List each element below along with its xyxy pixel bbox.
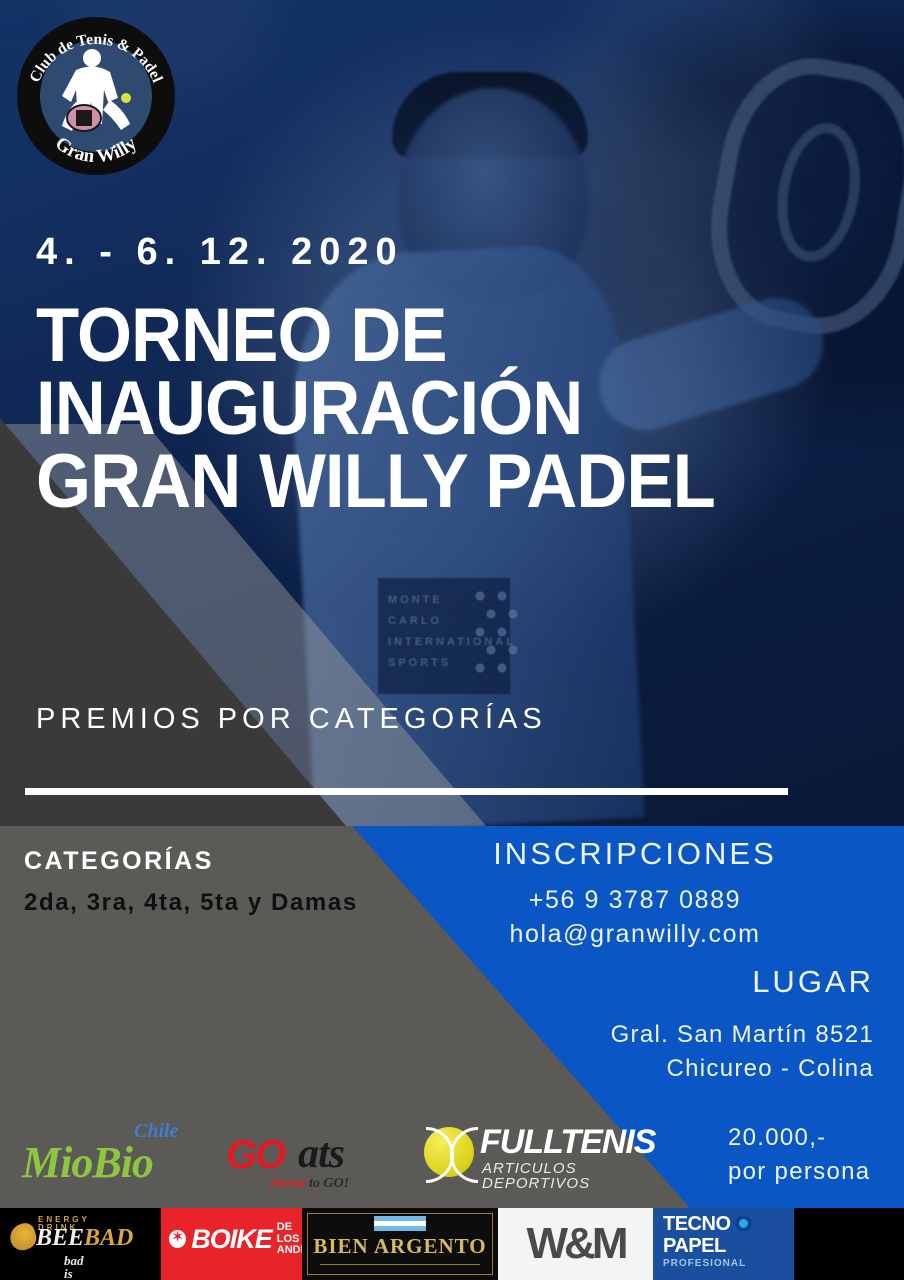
bienargento-rule — [320, 1264, 480, 1265]
bienargento-logo: BIEN ARGENTO — [307, 1213, 493, 1275]
tecnopapel-line-3: PROFESIONAL — [663, 1259, 746, 1269]
sponsor-fulltenis-logo: FULLTENIS ARTICULOS DEPORTIVOS — [424, 1123, 634, 1193]
divider-rule — [25, 788, 788, 795]
sponsor-wm-cell: W&M — [498, 1208, 653, 1280]
beebad-word-a: BEE — [36, 1225, 84, 1251]
registration-heading: INSCRIPCIONES — [410, 838, 860, 869]
boike-wordmark: BOIKE — [191, 1226, 272, 1253]
sponsor-bienargento-cell: BIEN ARGENTO — [302, 1208, 498, 1280]
registration-email[interactable]: hola@granwilly.com — [410, 918, 860, 952]
categories-list: 2da, 3ra, 4ta, 5ta y Damas — [24, 891, 358, 915]
tecnopapel-line-1: TECNO — [663, 1214, 746, 1234]
tournament-poster: MONTECARLOINTERNATIONALSPORTS — [0, 0, 904, 1280]
sponsor-tecnopapel-cell: TECNO PAPEL PROFESIONAL — [653, 1208, 794, 1280]
goats-tagline-a: Avena — [270, 1176, 306, 1191]
bee-icon — [7, 1221, 40, 1254]
sponsor-blank-cell — [794, 1208, 904, 1280]
sponsor-strip: ENERGY DRINK BEEBAD bad is better BOIKE … — [0, 1208, 904, 1280]
sponsor-goats-logo: GO ats Avena to GO! — [226, 1119, 386, 1199]
beebad-wordmark: BEEBAD — [36, 1226, 133, 1250]
venue-heading: LUGAR — [752, 966, 874, 997]
sponsor-miobio-logo: Chile MioBio — [22, 1115, 197, 1195]
bienargento-wordmark: BIEN ARGENTO — [308, 1236, 492, 1257]
title-line-1: TORNEO DE — [36, 300, 771, 373]
page-title: TORNEO DE INAUGURACIÓN GRAN WILLY PADEL — [36, 300, 771, 519]
sponsor-logo-row: Chile MioBio GO ats Avena to GO! FULLTEN… — [0, 1105, 700, 1205]
tecnopapel-dot-icon — [735, 1215, 752, 1232]
title-line-3: GRAN WILLY PADEL — [36, 446, 771, 519]
venue-address-line-2: Chicureo - Colina — [611, 1052, 874, 1086]
venue-address-line-1: Gral. San Martín 8521 — [611, 1018, 874, 1052]
goats-ats-text: ats — [298, 1133, 344, 1175]
wm-wordmark: W&M — [498, 1208, 653, 1280]
beebad-slogan: bad is better — [64, 1254, 94, 1280]
tecnopapel-line-2: PAPEL — [663, 1236, 746, 1256]
miobio-wordmark: MioBio — [22, 1141, 153, 1185]
price-block: 20.000,- por persona — [728, 1121, 870, 1189]
price-amount: 20.000,- — [728, 1121, 870, 1155]
tennis-ball-icon — [424, 1127, 474, 1177]
sponsor-boike-cell: BOIKE DE LOS ANDES — [161, 1208, 302, 1280]
boike-logo: BOIKE DE LOS ANDES — [169, 1222, 316, 1257]
goats-tagline: Avena to GO! — [270, 1177, 349, 1191]
event-date: 4. - 6. 12. 2020 — [36, 233, 404, 271]
categories-heading: CATEGORÍAS — [24, 849, 214, 874]
goats-go-text: GO — [226, 1135, 284, 1175]
fulltenis-wordmark: FULLTENIS — [480, 1125, 655, 1159]
club-logo: Club de Tenis & Padel Gran Willy — [14, 14, 178, 178]
prizes-label: PREMIOS POR CATEGORÍAS — [36, 705, 547, 734]
sponsor-beebad-cell: ENERGY DRINK BEEBAD bad is better — [0, 1208, 161, 1280]
price-unit: por persona — [728, 1155, 870, 1189]
registration-phone[interactable]: +56 9 3787 0889 — [410, 884, 860, 918]
argentina-flag-icon — [374, 1216, 426, 1231]
tecnopapel-logo: TECNO PAPEL PROFESIONAL — [663, 1214, 746, 1269]
goats-tagline-b: to GO! — [306, 1176, 350, 1191]
fulltenis-subtitle: ARTICULOS DEPORTIVOS — [482, 1161, 634, 1191]
boike-mark-icon — [169, 1230, 186, 1248]
beebad-word-b: BAD — [84, 1225, 133, 1251]
title-line-2: INAUGURACIÓN — [36, 373, 771, 446]
venue-address: Gral. San Martín 8521 Chicureo - Colina — [611, 1018, 874, 1086]
